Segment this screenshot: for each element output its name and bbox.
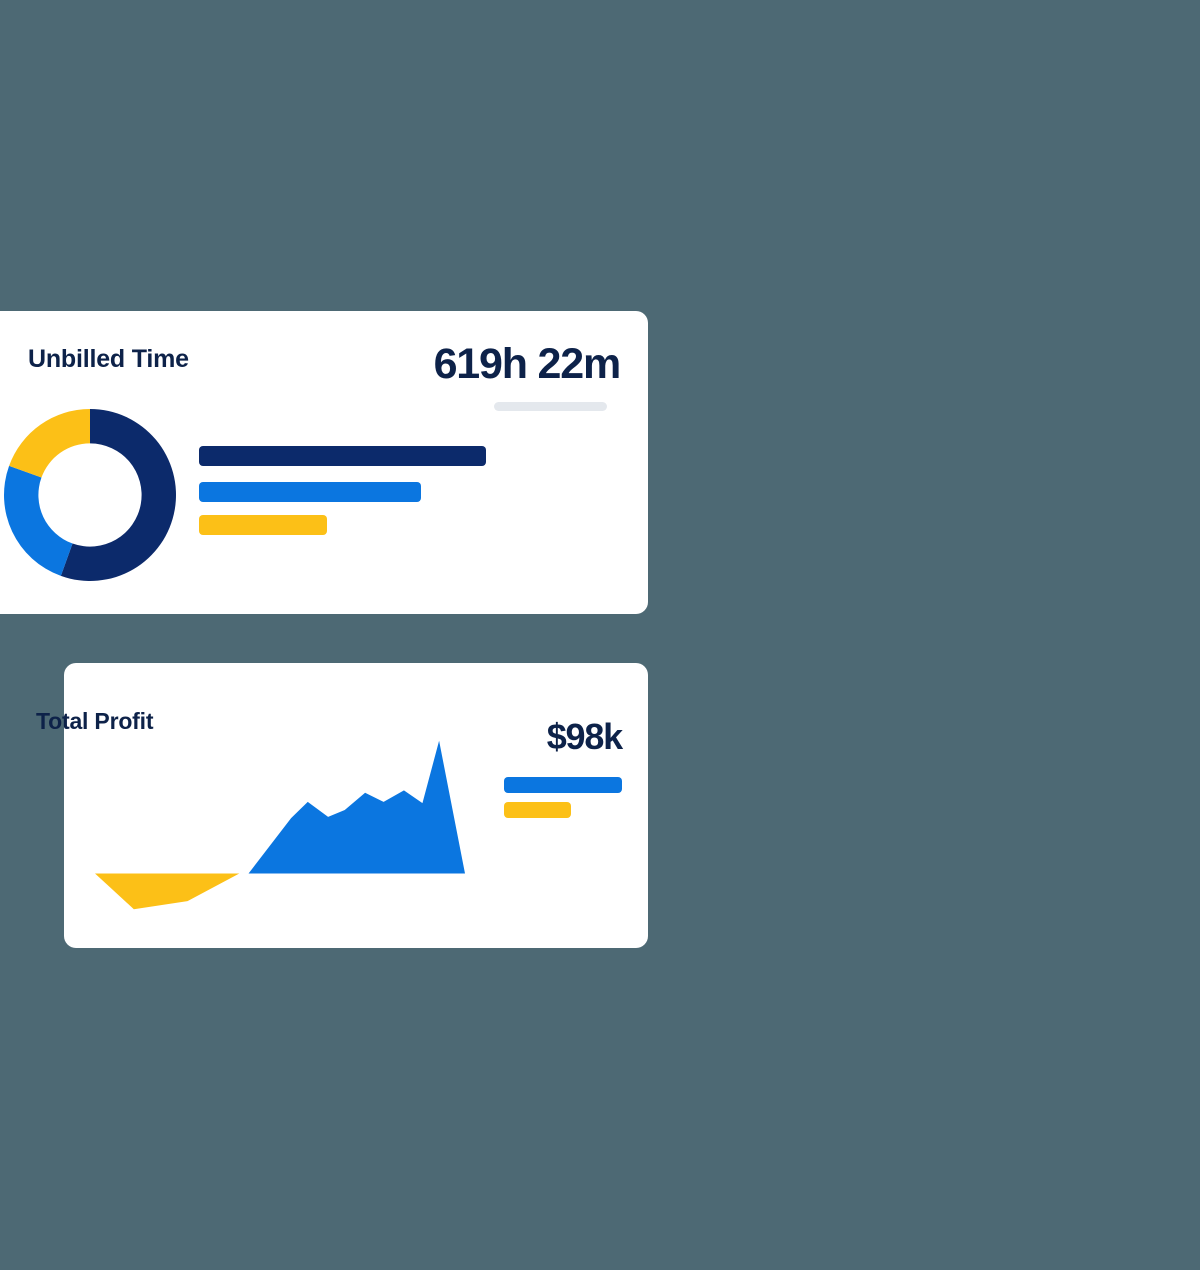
total-profit-legend-bar-blue	[504, 777, 622, 793]
unbilled-time-bar-blue	[199, 482, 421, 502]
donut-slice-1	[4, 466, 73, 576]
unbilled-time-donut-chart	[0, 405, 180, 585]
total-profit-card-title: Total Profit	[36, 708, 153, 735]
dashboard-stage: Unbilled Time 619h 22m Total Profit $98k	[0, 0, 1200, 1270]
unbilled-time-card-title: Unbilled Time	[28, 345, 189, 374]
area-series-profit	[249, 741, 465, 874]
unbilled-time-bar-navy	[199, 446, 486, 466]
area-series-loss	[95, 873, 239, 909]
unbilled-time-card-value: 619h 22m	[320, 340, 620, 388]
unbilled-time-bar-yellow	[199, 515, 327, 535]
loading-placeholder-bar	[494, 402, 607, 411]
total-profit-legend-bar-yellow	[504, 802, 571, 818]
total-profit-area-chart	[95, 735, 465, 915]
donut-slice-2	[9, 409, 90, 478]
